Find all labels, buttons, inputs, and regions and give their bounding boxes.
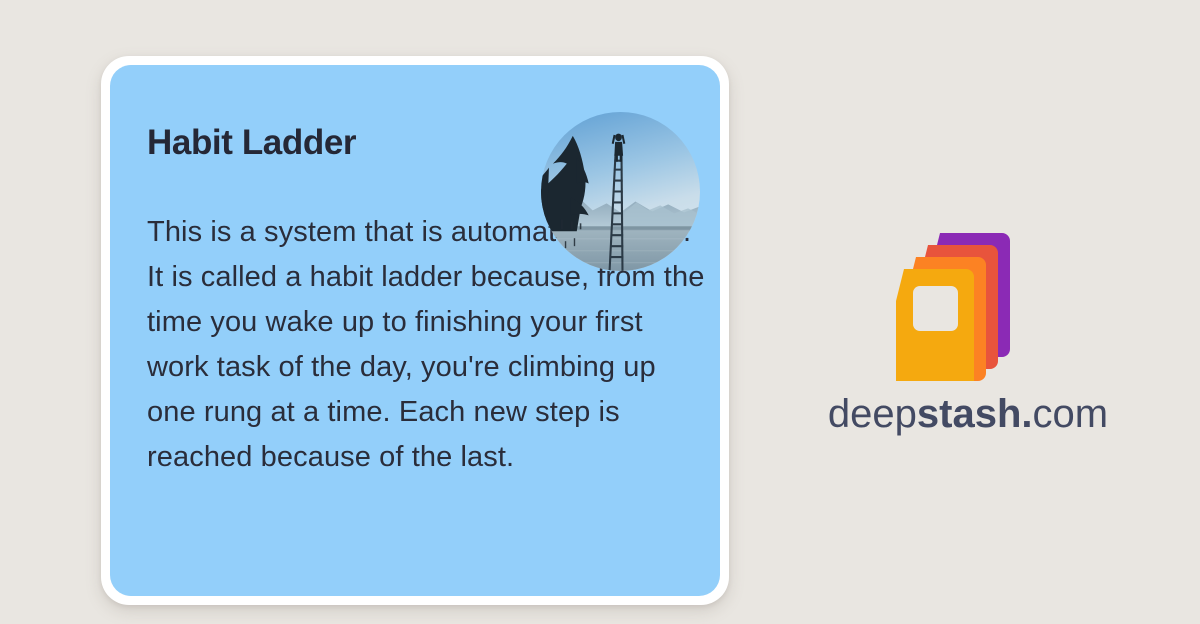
- wordmark-stash: stash: [917, 392, 1022, 436]
- page-title: Habit Ladder: [147, 125, 356, 162]
- wordmark-tld: com: [1033, 392, 1109, 436]
- deepstash-wordmark: deepstash.com: [808, 391, 1128, 437]
- wordmark-dot: .: [1021, 392, 1032, 436]
- brand-block: deepstash.com: [808, 221, 1128, 441]
- deepstash-logo-icon: [880, 221, 1040, 381]
- ladder-photo: [541, 112, 700, 271]
- logo-hollow-center: [913, 286, 958, 331]
- idea-card-surface: Habit Ladder This is a system that is au…: [110, 65, 720, 596]
- wordmark-deep: deep: [828, 392, 917, 436]
- idea-card[interactable]: Habit Ladder This is a system that is au…: [101, 56, 729, 605]
